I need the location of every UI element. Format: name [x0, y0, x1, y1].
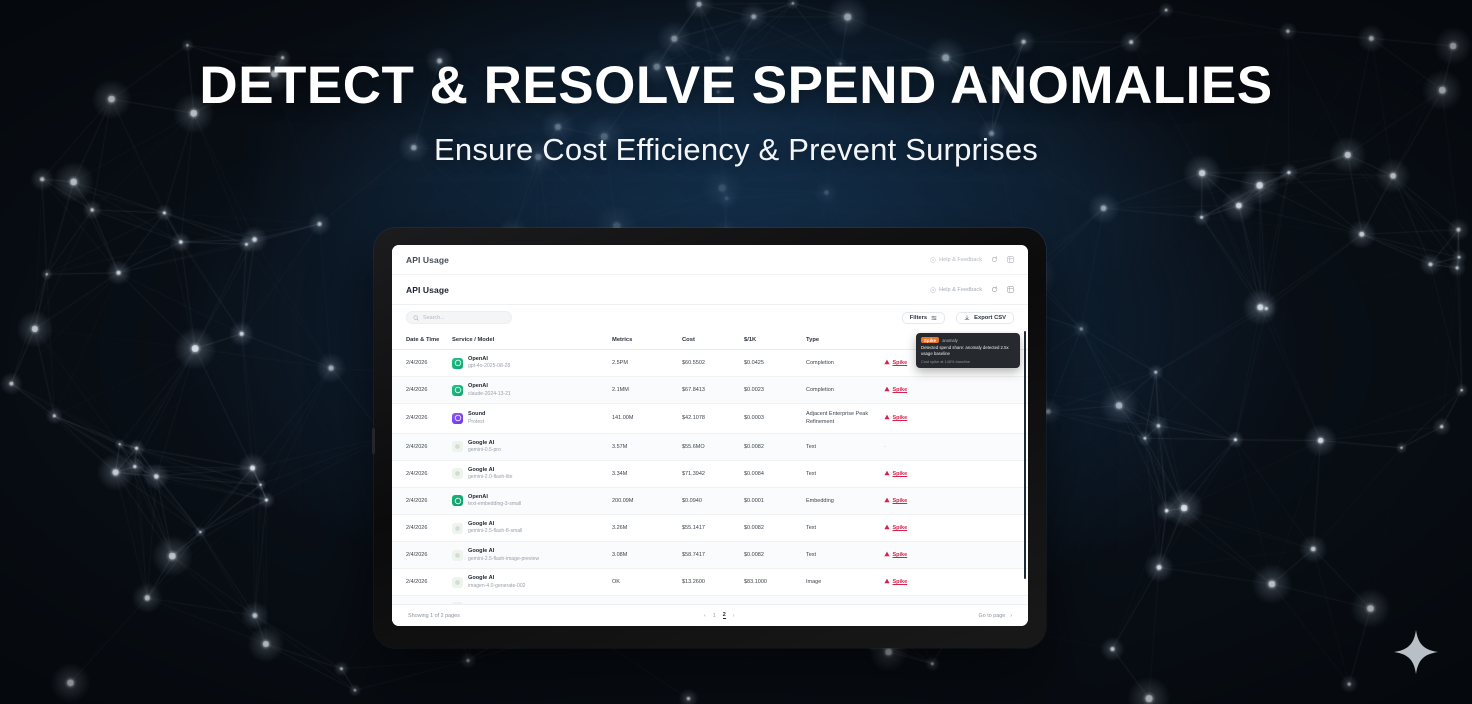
spike-badge[interactable]: Spike [884, 551, 907, 559]
cell-type: Completion [806, 377, 884, 404]
service-model: gemini-2.5-flash-image-preview [468, 556, 539, 563]
question-circle-icon [930, 287, 936, 293]
tooltip-footer: Cost spike at 148% baseline [921, 359, 1015, 364]
help-feedback-label-ghost: Help & Feedback [939, 257, 982, 263]
service-name: Google AI [468, 521, 522, 528]
service-model: gpt-4o-2025-08-28 [468, 363, 510, 370]
cell-rate: $0.0082 [744, 433, 806, 460]
filters-button[interactable]: Filters [902, 312, 945, 324]
refresh-icon-ghost[interactable] [991, 256, 998, 263]
service-name: Sound [468, 411, 485, 418]
spike-badge[interactable]: Spike [884, 386, 907, 394]
cell-service: SoundProtest [452, 404, 612, 434]
cell-date: 2/4/2026 [392, 514, 452, 541]
service-model: gemini-2.5-flash-8-small [468, 528, 522, 535]
cell-rate [744, 596, 806, 604]
cell-service: OpenAItext-embedding-3-small [452, 487, 612, 514]
cell-date: 2/4/2026 [392, 350, 452, 377]
toolbar: Search... Filters Export CSV [392, 305, 1028, 331]
service-icon-purple [452, 413, 463, 424]
cell-service: Google AIgemini-0.5-pro [452, 433, 612, 460]
cell-type [806, 596, 884, 604]
cell-action: Spike [884, 569, 1028, 596]
pagination: ‹ 1 2 › [704, 612, 735, 620]
cell-cost: $71.3942 [682, 460, 744, 487]
app-title: API Usage [406, 285, 449, 295]
cell-type: Completion [806, 350, 884, 377]
help-feedback-label: Help & Feedback [939, 287, 982, 293]
warning-icon [884, 414, 890, 422]
service-icon-pale [452, 468, 463, 479]
cell-service: Google AIgemini-2.5-flash-image-preview [452, 542, 612, 569]
export-csv-button[interactable]: Export CSV [956, 312, 1014, 324]
cell-metrics: 3.26M [612, 514, 682, 541]
service-model: gemini-2.0-flash-lite [468, 474, 512, 481]
cell-date: 2/4/2026 [392, 460, 452, 487]
warning-icon [884, 359, 890, 367]
cell-cost: $42.1078 [682, 404, 744, 434]
tablet-side-button [372, 428, 375, 454]
cell-type: Text [806, 460, 884, 487]
cell-rate: $0.0003 [744, 404, 806, 434]
service-model: text-embedding-3-small [468, 501, 521, 508]
service-name: Google AI [468, 548, 539, 555]
cell-action: - [884, 433, 1028, 460]
cell-date: 2/4/2026 [392, 377, 452, 404]
spike-badge[interactable]: Spike [884, 470, 907, 478]
col-type[interactable]: Type [806, 331, 884, 350]
help-feedback-button[interactable]: Help & Feedback [930, 287, 982, 293]
grid-icon-ghost[interactable] [1007, 256, 1014, 263]
goto-page[interactable]: Go to page › [979, 613, 1012, 619]
table-row[interactable]: 2/4/2026OpenAIclaude-2024-13-212.1MM$67.… [392, 377, 1028, 404]
cell-metrics: 141.00M [612, 404, 682, 434]
service-icon-green2 [452, 495, 463, 506]
page-button-1[interactable]: 1 [713, 613, 716, 619]
app-title-ghost: API Usage [406, 255, 449, 265]
service-icon-pale [452, 441, 463, 452]
table-row[interactable]: 2/4/2026SoundProtest141.00M$42.1078$0.00… [392, 404, 1028, 434]
spike-badge[interactable]: Spike [884, 578, 907, 586]
cell-rate: $0.0001 [744, 487, 806, 514]
service-name: OpenAI [468, 356, 510, 363]
cell-date: 2/4/2026 [392, 433, 452, 460]
table-row[interactable]: 2/4/2026Google AI [392, 596, 1028, 604]
table-row[interactable]: 2/4/2026OpenAItext-embedding-3-small200.… [392, 487, 1028, 514]
help-feedback-ghost[interactable]: Help & Feedback [930, 257, 982, 263]
col-cost[interactable]: Cost [682, 331, 744, 350]
service-icon-pale [452, 550, 463, 561]
question-circle-icon [930, 257, 936, 263]
cell-service: Google AIgemini-2.0-flash-lite [452, 460, 612, 487]
cell-rate: $0.0023 [744, 377, 806, 404]
hero-section: DETECT & RESOLVE SPEND ANOMALIES Ensure … [0, 0, 1472, 168]
service-icon-openai [452, 385, 463, 396]
download-icon [964, 315, 970, 321]
cell-metrics: 2.1MM [612, 377, 682, 404]
cell-action: Spike [884, 542, 1028, 569]
grid-icon[interactable] [1007, 286, 1014, 293]
cell-service: Google AI [452, 596, 612, 604]
cell-type: Text [806, 514, 884, 541]
warning-icon [884, 524, 890, 532]
cell-date: 2/4/2026 [392, 569, 452, 596]
cell-date: 2/4/2026 [392, 404, 452, 434]
cell-type: Embedding [806, 487, 884, 514]
service-name: OpenAI [468, 383, 511, 390]
cell-cost: $55.1417 [682, 514, 744, 541]
sliders-icon [931, 315, 937, 321]
spike-label: Spike [893, 498, 908, 504]
cell-metrics: 200.09M [612, 487, 682, 514]
col-metrics[interactable]: Metrics [612, 331, 682, 350]
sparkle-icon [1392, 628, 1440, 676]
showing-label: Showing 1 of 2 pages [408, 613, 460, 619]
spike-badge[interactable]: Spike [884, 497, 907, 505]
page-button-2[interactable]: 2 [723, 612, 726, 620]
vertical-scrollbar[interactable] [1024, 331, 1027, 579]
spike-label: Spike [893, 471, 908, 477]
cell-cost: $67.8413 [682, 377, 744, 404]
col-rate[interactable]: $/1K [744, 331, 806, 350]
spike-tooltip: Spike anomaly Detected spend share: anom… [916, 333, 1020, 368]
cell-service: OpenAIclaude-2024-13-21 [452, 377, 612, 404]
cell-cost: $0.0940 [682, 487, 744, 514]
spike-badge[interactable]: Spike [884, 414, 907, 422]
cell-metrics: 3.57M [612, 433, 682, 460]
cell-action [884, 596, 1028, 604]
filters-label: Filters [910, 315, 927, 321]
table-row[interactable]: 2/4/2026Google AIgemini-2.5-flash-8-smal… [392, 514, 1028, 541]
page-subtitle: Ensure Cost Efficiency & Prevent Surpris… [0, 132, 1472, 168]
warning-icon [884, 497, 890, 505]
spike-label: Spike [893, 387, 908, 393]
search-input[interactable]: Search... [406, 311, 512, 324]
cell-cost [682, 596, 744, 604]
prev-page-button[interactable]: ‹ [704, 613, 706, 619]
service-icon-pale [452, 602, 463, 604]
service-icon-pale [452, 523, 463, 534]
service-name: Google AI [468, 575, 525, 582]
spike-label: Spike [893, 360, 908, 366]
next-page-button[interactable]: › [733, 613, 735, 619]
table-row[interactable]: 2/4/2026Google AIgemini-0.5-pro3.57M$55.… [392, 433, 1028, 460]
cell-rate: $83.1000 [744, 569, 806, 596]
cell-rate: $0.0082 [744, 514, 806, 541]
cell-metrics: OK [612, 569, 682, 596]
col-date[interactable]: Date & Time [392, 331, 452, 350]
spike-label: Spike [893, 552, 908, 558]
cell-date: 2/4/2026 [392, 542, 452, 569]
service-icon-pale [452, 577, 463, 588]
cell-type: Text [806, 433, 884, 460]
tablet-device: API Usage Help & Feedback API Usage [374, 228, 1046, 648]
cell-type: Text [806, 542, 884, 569]
cell-action: Spike [884, 514, 1028, 541]
service-name: OpenAI [468, 494, 521, 501]
cell-type: Image [806, 569, 884, 596]
spike-badge[interactable]: Spike [884, 524, 907, 532]
search-icon [413, 315, 419, 321]
cell-action: Spike [884, 487, 1028, 514]
cell-cost: $60.5502 [682, 350, 744, 377]
spike-label: Spike [893, 579, 908, 585]
app-header: API Usage Help & Feedback [392, 275, 1028, 305]
cell-rate: $0.0425 [744, 350, 806, 377]
spike-label: Spike [893, 415, 908, 421]
page-title: DETECT & RESOLVE SPEND ANOMALIES [0, 58, 1472, 114]
cell-metrics [612, 596, 682, 604]
tooltip-badge: Spike [921, 337, 939, 343]
cell-metrics: 3.08M [612, 542, 682, 569]
spike-label: Spike [893, 525, 908, 531]
no-action: - [884, 444, 886, 450]
table-container: Spike anomaly Detected spend share: anom… [392, 331, 1028, 604]
tooltip-subtitle: anomaly [942, 338, 957, 343]
cell-date: 2/4/2026 [392, 596, 452, 604]
warning-icon [884, 470, 890, 478]
cell-service: Google AIgemini-2.5-flash-8-small [452, 514, 612, 541]
warning-icon [884, 578, 890, 586]
cell-service: Google AIimagen-4.0-generate-002 [452, 569, 612, 596]
cell-metrics: 3.34M [612, 460, 682, 487]
cell-date: 2/4/2026 [392, 487, 452, 514]
export-csv-label: Export CSV [974, 315, 1006, 321]
cell-action: Spike [884, 460, 1028, 487]
cell-action: Spike [884, 404, 1028, 434]
service-name: Google AI [468, 467, 512, 474]
service-model: claude-2024-13-21 [468, 391, 511, 398]
service-icon-openai [452, 358, 463, 369]
service-name: Google AI [468, 440, 501, 447]
service-model: imagen-4.0-generate-002 [468, 583, 525, 590]
table-footer: Showing 1 of 2 pages ‹ 1 2 › Go to page … [392, 604, 1028, 626]
warning-icon [884, 386, 890, 394]
table-row[interactable]: 2/4/2026Google AIgemini-2.0-flash-lite3.… [392, 460, 1028, 487]
cell-cost: $55.6MO [682, 433, 744, 460]
tablet-screen: API Usage Help & Feedback API Usage [392, 245, 1028, 626]
cell-rate: $0.0084 [744, 460, 806, 487]
spike-badge[interactable]: Spike [884, 359, 907, 367]
goto-page-label: Go to page [979, 613, 1006, 619]
service-model: gemini-0.5-pro [468, 447, 501, 454]
search-placeholder: Search... [423, 315, 445, 321]
col-service[interactable]: Service / Model [452, 331, 612, 350]
cell-service: OpenAIgpt-4o-2025-08-28 [452, 350, 612, 377]
tooltip-body: Detected spend share: anomaly detected 2… [921, 345, 1015, 357]
service-model: Protest [468, 419, 485, 426]
table-body: 2/4/2026OpenAIgpt-4o-2025-08-282.5PM$60.… [392, 350, 1028, 605]
warning-icon [884, 551, 890, 559]
cell-action: Spike [884, 377, 1028, 404]
cell-rate: $0.0082 [744, 542, 806, 569]
chevron-right-icon: › [1010, 613, 1012, 619]
table-row[interactable]: 2/4/2026Google AIimagen-4.0-generate-002… [392, 569, 1028, 596]
api-usage-table: Date & Time Service / Model Metrics Cost… [392, 331, 1028, 604]
cell-type: Adjacent Enterprise Peak Refinement [806, 404, 884, 434]
cell-metrics: 2.5PM [612, 350, 682, 377]
refresh-icon[interactable] [991, 286, 998, 293]
cell-cost: $58.7417 [682, 542, 744, 569]
table-row[interactable]: 2/4/2026Google AIgemini-2.5-flash-image-… [392, 542, 1028, 569]
cell-cost: $13.2600 [682, 569, 744, 596]
app-header-ghost: API Usage Help & Feedback [392, 245, 1028, 275]
